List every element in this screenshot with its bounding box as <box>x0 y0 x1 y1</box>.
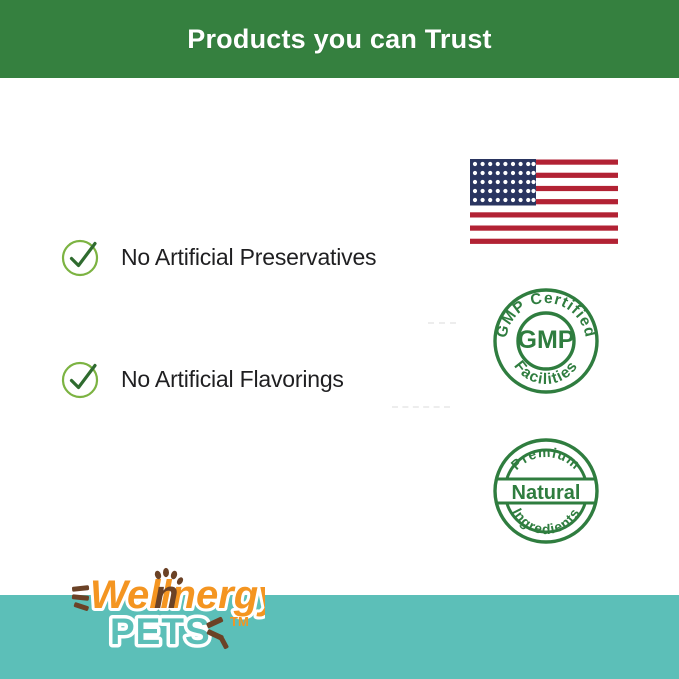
logo-trademark: TM <box>230 614 249 629</box>
gmp-bottom-arc-text: Facilities <box>510 358 581 388</box>
premium-natural-seal: Premium Ingredients Natural <box>490 435 602 547</box>
header-banner: Products you can Trust <box>0 0 679 78</box>
check-circle-icon <box>60 236 102 278</box>
feature-label: No Artificial Preservatives <box>121 244 376 271</box>
svg-text:Ingredients: Ingredients <box>509 505 583 537</box>
logo-line2: PETS <box>110 611 211 652</box>
dashed-separator <box>392 406 450 408</box>
feature-label: No Artificial Flavorings <box>121 366 344 393</box>
wellnergy-pets-logo[interactable]: Wellnergy Wellnergy n PETS PETS TM <box>70 562 265 654</box>
gmp-certified-seal: GMP Certified Facilities GMP <box>490 285 602 397</box>
natural-bottom-arc-text: Ingredients <box>509 505 583 537</box>
product-trust-infographic: Products you can Trust No Artificial Pre… <box>0 0 679 679</box>
check-circle-icon <box>60 358 102 400</box>
svg-text:Facilities: Facilities <box>510 358 581 388</box>
feature-item-flavorings: No Artificial Flavorings <box>60 358 344 400</box>
us-flag-icon <box>470 159 618 245</box>
natural-center-text: Natural <box>512 482 581 504</box>
dashed-separator <box>428 322 456 324</box>
feature-item-preservatives: No Artificial Preservatives <box>60 236 376 278</box>
page-title: Products you can Trust <box>187 24 491 55</box>
gmp-center-text: GMP <box>518 326 575 354</box>
